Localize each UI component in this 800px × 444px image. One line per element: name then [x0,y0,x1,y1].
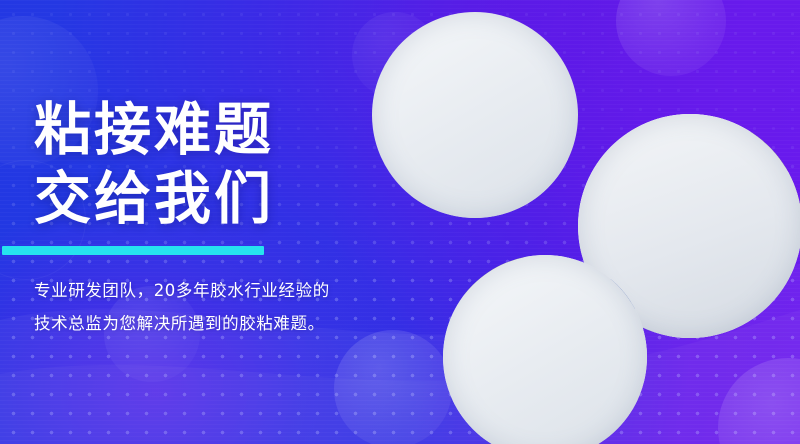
subtitle-line-2: 技术总监为您解决所遇到的胶粘难题。 [34,307,394,340]
bokeh-circle [334,330,452,444]
headline-block: 粘接难题 交给我们 [34,96,394,234]
subtitle-block: 专业研发团队，20多年胶水行业经验的 技术总监为您解决所遇到的胶粘难题。 [34,274,394,340]
headline-line-1: 粘接难题 [34,96,394,165]
photo-edge [372,12,578,218]
photo-technician-applying-adhesive [443,255,647,444]
promotional-banner: 粘接难题 交给我们 专业研发团队，20多年胶水行业经验的 技术总监为您解决所遇到… [0,0,800,444]
subtitle-line-1: 专业研发团队，20多年胶水行业经验的 [34,274,394,307]
headline-line-2: 交给我们 [34,165,394,234]
cyan-underline-bar [2,246,264,255]
photo-scientist-with-beaker [372,12,578,218]
photo-edge [443,255,647,444]
